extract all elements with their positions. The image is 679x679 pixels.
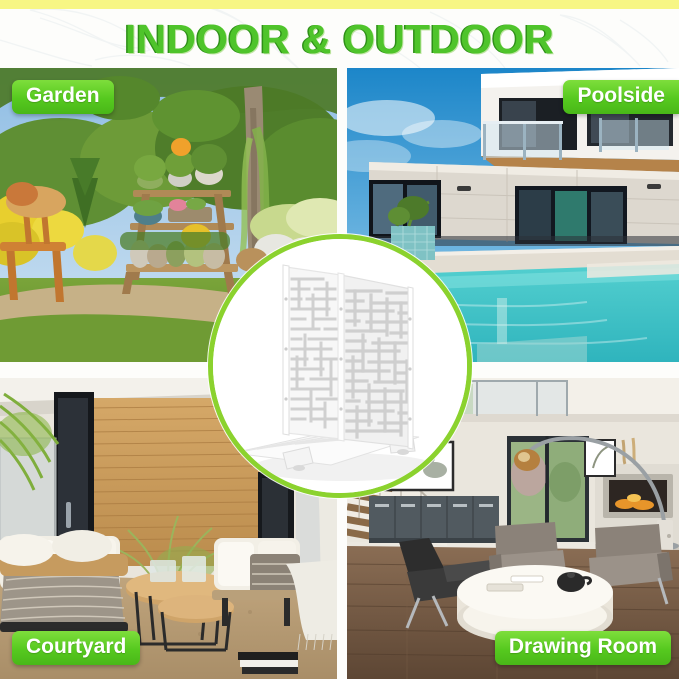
infographic-canvas: INDOOR & OUTDOOR — [0, 0, 679, 679]
badge-courtyard: Courtyard — [12, 631, 140, 665]
page-title: INDOOR & OUTDOOR — [0, 14, 679, 64]
product-highlight-circle[interactable] — [208, 234, 472, 498]
badge-drawing-room: Drawing Room — [495, 631, 671, 665]
top-accent-bar — [0, 0, 679, 9]
badge-garden: Garden — [12, 80, 114, 114]
badge-poolside: Poolside — [563, 80, 679, 114]
product-image — [213, 239, 467, 493]
privacy-screen-illustration — [213, 239, 472, 498]
